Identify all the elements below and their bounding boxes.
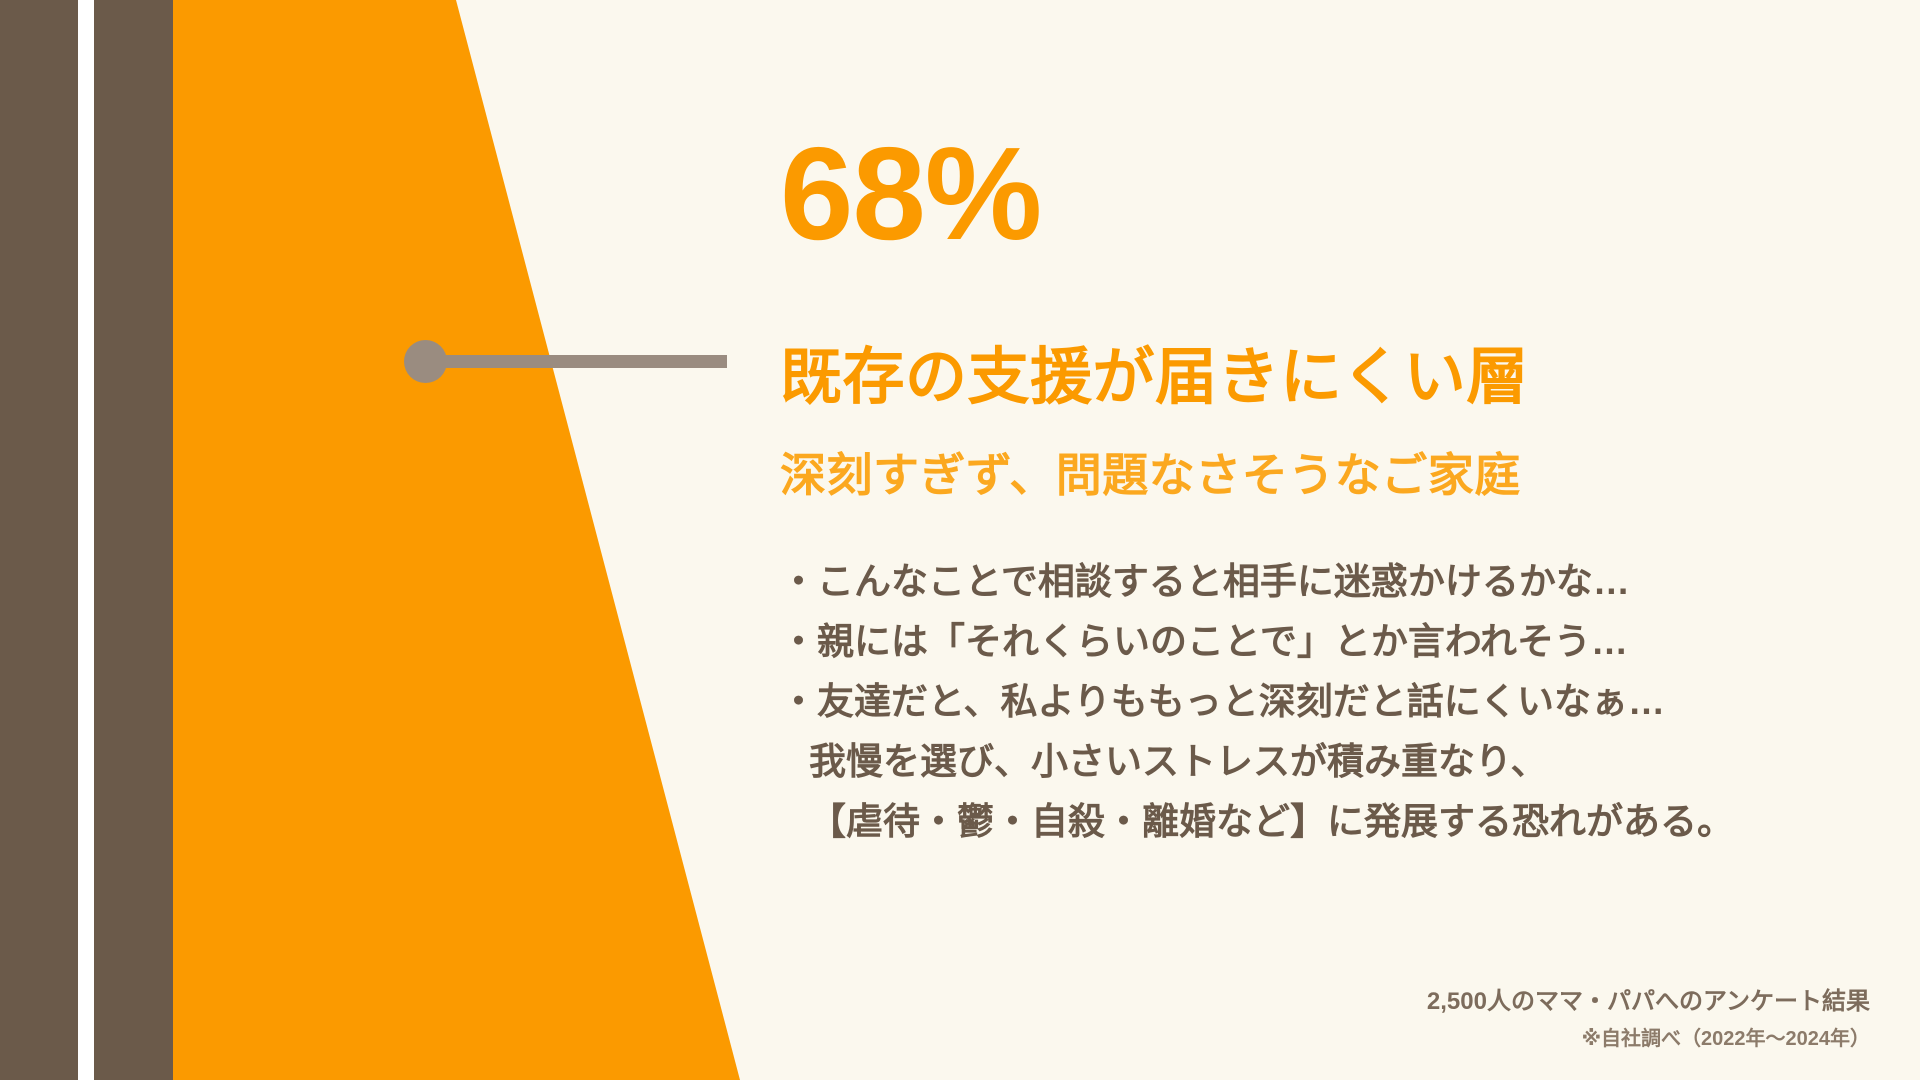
orange-diagonal-wedge bbox=[173, 0, 773, 1080]
connector-dot-icon bbox=[404, 340, 447, 383]
survey-period-note: ※自社調べ（2022年〜2024年） bbox=[1427, 1024, 1870, 1054]
left-inner-bar bbox=[94, 0, 173, 1080]
list-item: ・こんなことで相談すると相手に迷惑かけるかな… bbox=[780, 552, 1840, 612]
stat-value: 68% bbox=[780, 128, 1041, 260]
left-bar-gap bbox=[78, 0, 94, 1080]
content-column: 68% 既存の支援が届きにくい層 深刻すぎず、問題なさそうなご家庭 ・こんなこと… bbox=[780, 0, 1860, 1080]
slide-canvas: 68% 既存の支援が届きにくい層 深刻すぎず、問題なさそうなご家庭 ・こんなこと… bbox=[0, 0, 1920, 1080]
left-outer-bar bbox=[0, 0, 78, 1080]
list-item-continuation: 【虐待・鬱・自殺・離婚など】に発展する恐れがある。 bbox=[780, 792, 1840, 852]
page-title: 既存の支援が届きにくい層 bbox=[780, 345, 1529, 412]
survey-source-note: 2,500人のママ・パパへのアンケート結果 bbox=[1427, 984, 1870, 1020]
list-item: ・親には「それくらいのことで」とか言われそう… bbox=[780, 612, 1840, 672]
list-item-continuation: 我慢を選び、小さいストレスが積み重なり、 bbox=[780, 732, 1840, 792]
page-subtitle: 深刻すぎず、問題なさそうなご家庭 bbox=[780, 450, 1521, 501]
connector-line bbox=[426, 355, 727, 368]
footnotes: 2,500人のママ・パパへのアンケート結果 ※自社調べ（2022年〜2024年） bbox=[1427, 984, 1870, 1054]
bullet-list: ・こんなことで相談すると相手に迷惑かけるかな… ・親には「それくらいのことで」と… bbox=[780, 552, 1840, 852]
list-item: ・友達だと、私よりももっと深刻だと話にくいなぁ… bbox=[780, 672, 1840, 732]
